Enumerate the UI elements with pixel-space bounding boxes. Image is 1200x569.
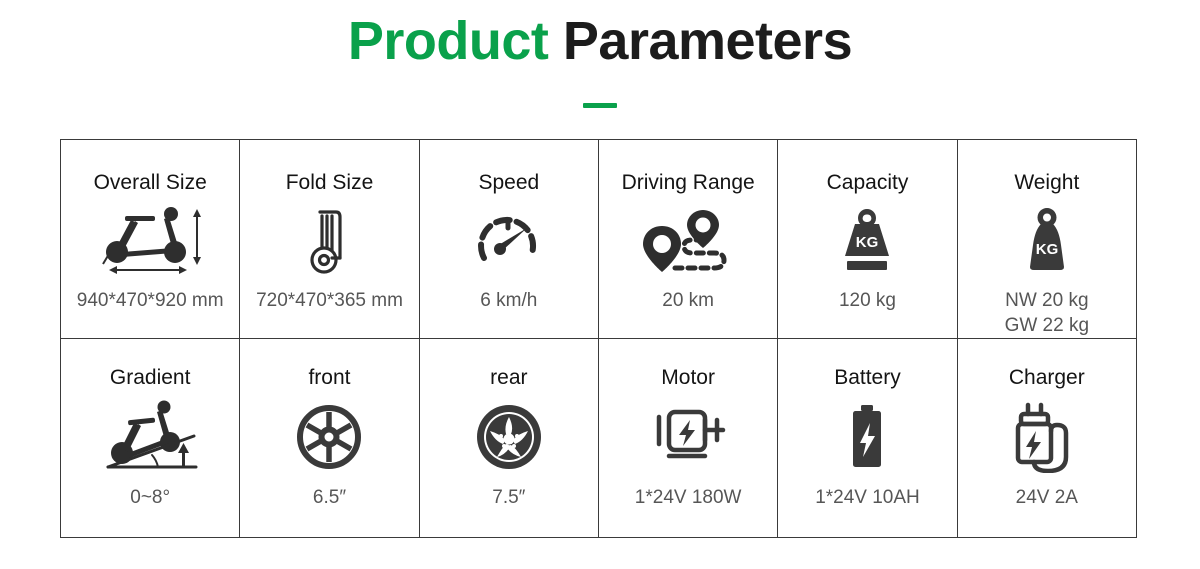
alloy-tire-icon: [473, 397, 545, 477]
spec-cell-overall-size: Overall Size: [61, 140, 240, 338]
spec-value: 1*24V 180W: [635, 485, 742, 510]
spec-value: NW 20 kg GW 22 kg: [1005, 288, 1089, 338]
page-title-plain: Parameters: [548, 11, 852, 71]
spec-value: 0~8°: [130, 485, 170, 510]
spec-value: 6.5″: [313, 485, 346, 510]
incline-scooter-icon: [90, 397, 210, 477]
spec-value-line-2: GW 22 kg: [1005, 313, 1089, 338]
spec-value: 24V 2A: [1016, 485, 1078, 510]
spec-row: Gradient: [61, 339, 1136, 537]
battery-bolt-icon: [839, 397, 895, 477]
svg-text:KG: KG: [856, 234, 879, 251]
spec-label: Charger: [1009, 365, 1085, 390]
spec-cell-motor: Motor 1*24V 180W: [599, 339, 778, 537]
speedometer-icon: [471, 202, 547, 280]
spec-label: front: [308, 365, 350, 390]
spec-cell-capacity: Capacity KG 120 kg: [778, 140, 957, 338]
title-underline-accent: [583, 103, 617, 108]
spec-label: Overall Size: [94, 170, 207, 195]
folded-scooter-icon: [298, 202, 360, 280]
spec-label: Driving Range: [622, 170, 755, 195]
spec-value: 6 km/h: [480, 288, 537, 313]
spec-value: 720*470*365 mm: [256, 288, 403, 313]
spec-cell-driving-range: Driving Range 20 km: [599, 140, 778, 338]
spec-cell-rear-wheel: rear: [420, 339, 599, 537]
spoked-wheel-icon: [294, 397, 364, 477]
product-parameters-page: Product Parameters Overall Size: [0, 0, 1200, 569]
scooter-dimensions-icon: [89, 202, 211, 280]
map-route-pins-icon: [630, 202, 746, 280]
spec-label: Speed: [478, 170, 539, 195]
kg-weight-plate-icon: KG: [831, 202, 903, 280]
spec-label: Gradient: [110, 365, 191, 390]
spec-cell-fold-size: Fold Size 720*470*365: [240, 140, 419, 338]
spec-cell-charger: Charger 24V 2A: [958, 339, 1136, 537]
spec-value: 1*24V 10AH: [815, 485, 920, 510]
spec-value: 7.5″: [492, 485, 525, 510]
page-title: Product Parameters: [0, 9, 1200, 73]
spec-label: Battery: [834, 365, 901, 390]
spec-cell-speed: Speed 6 km/h: [420, 140, 599, 338]
spec-cell-battery: Battery 1*24V 10AH: [778, 339, 957, 537]
page-title-accent: Product: [348, 11, 549, 71]
spec-label: rear: [490, 365, 527, 390]
svg-text:KG: KG: [1036, 241, 1059, 258]
charger-plug-icon: [1004, 397, 1090, 477]
spec-label: Fold Size: [286, 170, 374, 195]
spec-value: 20 km: [662, 288, 714, 313]
spec-label: Capacity: [827, 170, 909, 195]
spec-label: Weight: [1014, 170, 1079, 195]
spec-cell-weight: Weight KG NW 20 kg GW 22 kg: [958, 140, 1136, 338]
spec-value-line-1: NW 20 kg: [1005, 288, 1089, 313]
spec-table: Overall Size: [60, 139, 1137, 538]
spec-row: Overall Size: [61, 140, 1136, 339]
spec-value: 940*470*920 mm: [77, 288, 224, 313]
page-header: Product Parameters: [0, 0, 1200, 108]
spec-cell-front-wheel: front: [240, 339, 419, 537]
spec-cell-gradient: Gradient: [61, 339, 240, 537]
spec-label: Motor: [661, 365, 715, 390]
spec-value: 120 kg: [839, 288, 896, 313]
electric-motor-icon: [645, 397, 731, 477]
kg-weight-bell-icon: KG: [1015, 202, 1079, 280]
